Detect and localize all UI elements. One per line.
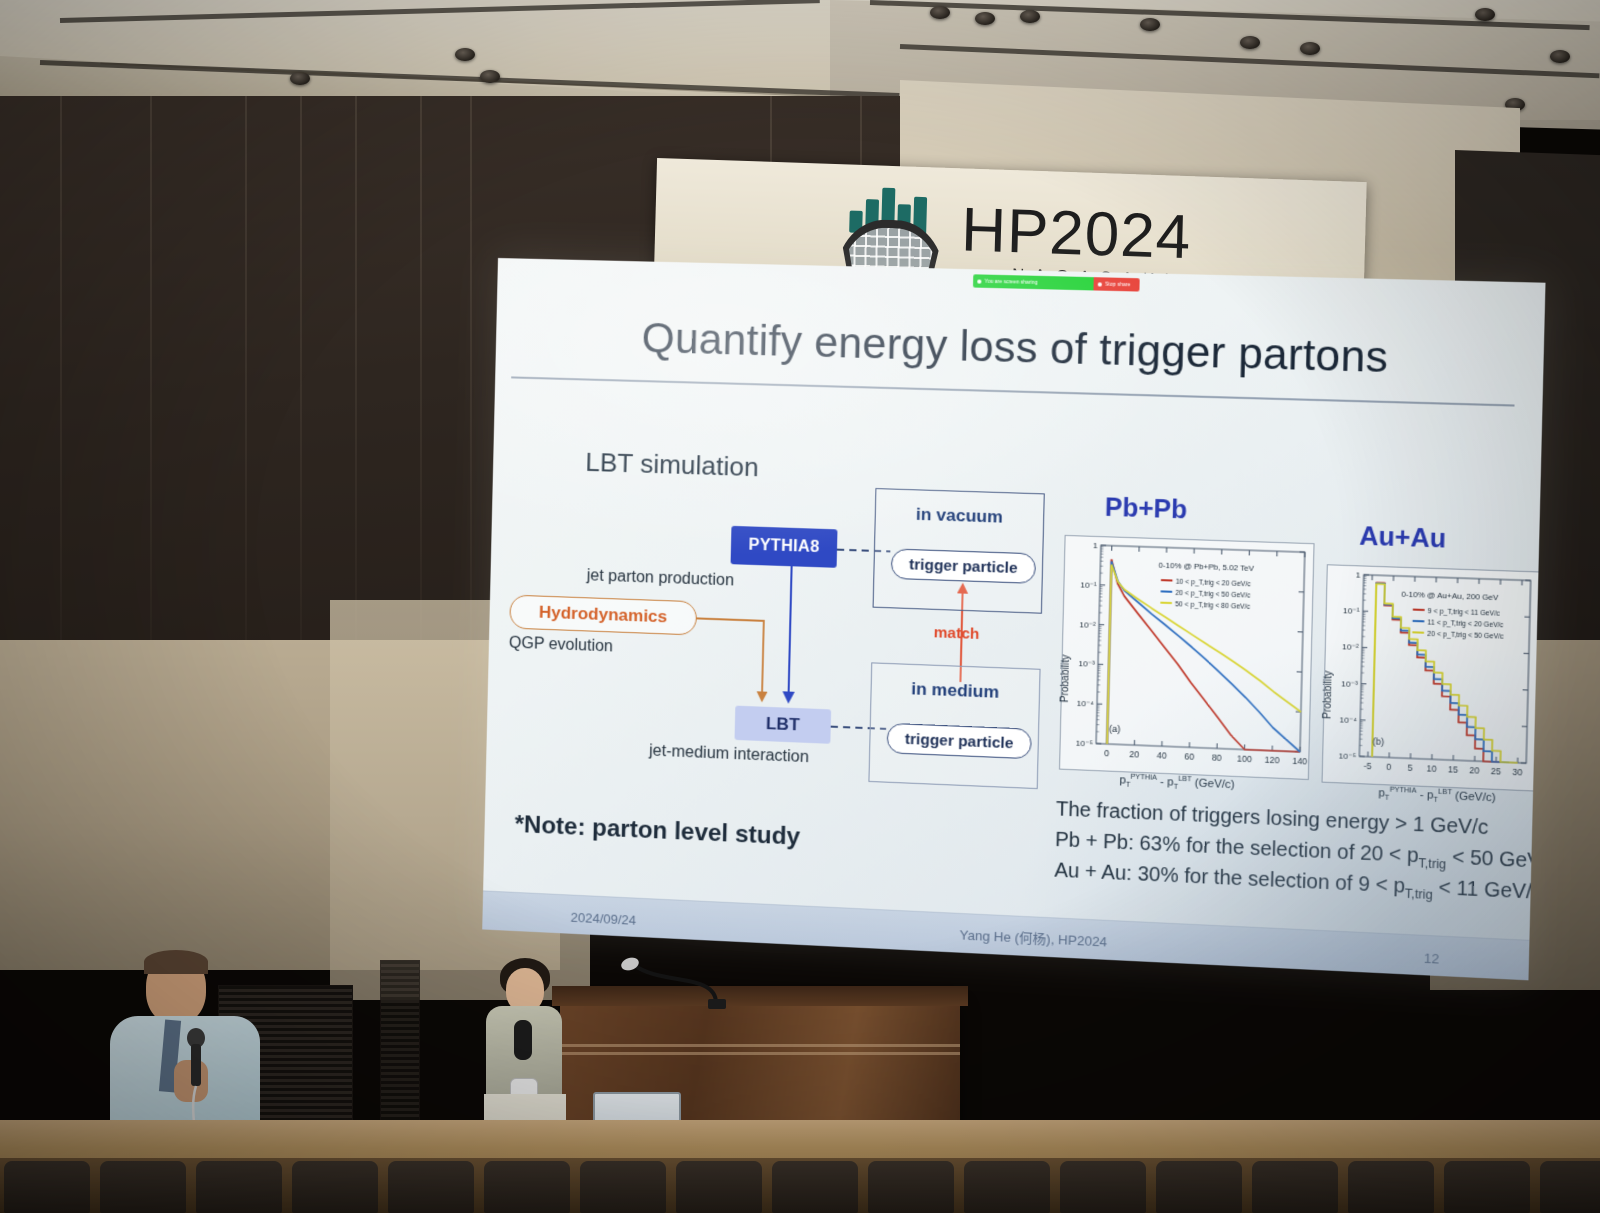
ceiling-spotlight: [1140, 18, 1160, 31]
svg-text:100: 100: [1237, 753, 1252, 764]
svg-text:80: 80: [1212, 752, 1222, 763]
front-seat-row: [0, 1153, 1600, 1213]
medium-trigger-particle: trigger particle: [887, 723, 1032, 759]
auditorium-photo: HP2024 NAGASAKI You are screen sharing S…: [0, 0, 1600, 1213]
screen-share-status: You are screen sharing: [973, 274, 1094, 290]
svg-text:120: 120: [1264, 755, 1280, 766]
projection-screen: You are screen sharing Stop share Quanti…: [482, 258, 1545, 980]
svg-text:0: 0: [1386, 762, 1392, 773]
svg-text:9 < p_T,trig < 11 GeV/c: 9 < p_T,trig < 11 GeV/c: [1428, 608, 1501, 618]
gooseneck-microphone: [600, 955, 760, 1025]
slide-title: Quantify energy loss of trigger partons: [496, 310, 1545, 387]
auditorium-seat: [4, 1161, 90, 1213]
svg-text:10: 10: [1426, 763, 1437, 774]
wall-seam: [245, 96, 247, 656]
wall-seam: [300, 96, 302, 656]
ceiling-spotlight: [1550, 50, 1570, 63]
lbt-box: LBT: [735, 706, 832, 744]
questioner-hair: [144, 950, 208, 974]
footer-page-number: 12: [1424, 950, 1440, 966]
svg-text:1: 1: [1356, 570, 1362, 579]
auditorium-seat: [1060, 1161, 1146, 1213]
svg-text:25: 25: [1491, 766, 1502, 777]
ceiling-spotlight: [930, 6, 950, 19]
svg-text:20 < p_T,trig < 50 GeV/c: 20 < p_T,trig < 50 GeV/c: [1427, 631, 1504, 641]
auditorium-seat: [292, 1161, 378, 1213]
svg-text:5: 5: [1408, 762, 1414, 773]
wall-seam: [355, 96, 357, 656]
svg-text:10⁻¹: 10⁻¹: [1080, 580, 1097, 590]
svg-text:1: 1: [1093, 541, 1098, 550]
x-axis-label: pTPYTHIA - pTLBT (GeV/c): [1119, 773, 1234, 793]
wall-seam: [470, 96, 472, 656]
in-medium-frame: in medium trigger particle: [868, 662, 1040, 789]
svg-text:30: 30: [1512, 767, 1523, 778]
svg-text:140: 140: [1292, 756, 1308, 767]
svg-text:10⁻⁴: 10⁻⁴: [1077, 699, 1095, 709]
auditorium-seat: [1252, 1161, 1338, 1213]
wall-seam: [60, 96, 62, 656]
auditorium-seat: [868, 1161, 954, 1213]
auditorium-seat: [100, 1161, 186, 1213]
stop-share-button[interactable]: Stop share: [1093, 277, 1139, 291]
svg-text:0: 0: [1104, 748, 1109, 758]
auditorium-seat: [1540, 1161, 1600, 1213]
banner-title: HP2024: [960, 199, 1192, 269]
conclusion-3-post: < 11 GeV/c: [1433, 876, 1543, 904]
presenter-microphone: [514, 1020, 532, 1060]
lectern-stripe-1: [560, 1044, 960, 1047]
ceiling-spotlight: [455, 48, 475, 61]
svg-text:20: 20: [1469, 765, 1480, 776]
wall-seam: [150, 96, 152, 656]
auditorium-seat: [196, 1161, 282, 1213]
svg-text:20 < p_T,trig < 50 GeV/c: 20 < p_T,trig < 50 GeV/c: [1175, 590, 1251, 600]
svg-text:10 < p_T,trig < 20 GeV/c: 10 < p_T,trig < 20 GeV/c: [1176, 579, 1252, 589]
in-vacuum-label: in vacuum: [876, 503, 1044, 529]
svg-text:60: 60: [1184, 751, 1194, 762]
parton-level-note: *Note: parton level study: [514, 811, 800, 852]
svg-text:(b): (b): [1372, 736, 1384, 747]
ceiling-spotlight: [1240, 36, 1260, 49]
y-axis-label: Probability: [1060, 655, 1073, 703]
ceiling-spotlight: [1020, 10, 1040, 23]
auditorium-seat: [1156, 1161, 1242, 1213]
conclusion-3-sub: T,trig: [1405, 886, 1433, 902]
auditorium-seat: [580, 1161, 666, 1213]
conclusion-2-post: < 50 GeV/c: [1446, 846, 1545, 874]
svg-text:10⁻³: 10⁻³: [1341, 679, 1358, 689]
svg-text:10⁻⁵: 10⁻⁵: [1076, 739, 1093, 749]
y-axis-label: Probability: [1322, 670, 1335, 719]
stop-dot-icon: [1098, 282, 1102, 286]
x-axis-label: pTPYTHIA - pTLBT (GeV/c): [1378, 786, 1496, 806]
svg-text:10⁻²: 10⁻²: [1079, 620, 1096, 630]
svg-text:10⁻²: 10⁻²: [1342, 643, 1359, 653]
auditorium-seat: [484, 1161, 570, 1213]
pythia8-box: PYTHIA8: [731, 526, 838, 568]
match-label: match: [934, 624, 980, 643]
pbpb-plot: 110⁻¹10⁻²10⁻³10⁻⁴10⁻⁵0204060801001201400…: [1059, 535, 1315, 780]
share-dot-icon: [977, 279, 981, 283]
svg-text:10⁻⁴: 10⁻⁴: [1339, 715, 1357, 725]
auau-chart-title: Au+Au: [1359, 522, 1446, 555]
share-label: You are screen sharing: [984, 278, 1037, 285]
auditorium-seat: [1444, 1161, 1530, 1213]
auditorium-seat: [676, 1161, 762, 1213]
in-medium-label: in medium: [871, 678, 1039, 705]
conclusion-2-sub: T,trig: [1418, 856, 1446, 872]
auau-plot: 110⁻¹10⁻²10⁻³10⁻⁴10⁻⁵-50510152025300-10%…: [1322, 564, 1541, 791]
svg-text:10⁻¹: 10⁻¹: [1343, 606, 1360, 616]
svg-text:20: 20: [1129, 749, 1139, 760]
auditorium-seat: [772, 1161, 858, 1213]
ceiling-spotlight: [290, 72, 310, 85]
stop-share-label: Stop share: [1105, 281, 1130, 288]
svg-text:11 < p_T,trig < 20 GeV/c: 11 < p_T,trig < 20 GeV/c: [1427, 619, 1504, 629]
wall-seam: [420, 96, 422, 656]
auditorium-seat: [388, 1161, 474, 1213]
screen-share-bar[interactable]: You are screen sharing Stop share: [973, 274, 1140, 291]
auditorium-seat: [964, 1161, 1050, 1213]
footer-date: 2024/09/24: [570, 910, 636, 928]
vacuum-trigger-particle: trigger particle: [891, 548, 1036, 583]
svg-text:(a): (a): [1109, 724, 1121, 735]
lectern-stripe-2: [560, 1052, 960, 1055]
ceiling-spotlight: [1300, 42, 1320, 55]
ceiling-spotlight: [975, 12, 995, 25]
svg-text:15: 15: [1448, 764, 1459, 775]
auditorium-seat: [1348, 1161, 1434, 1213]
ceiling-spotlight: [1475, 8, 1495, 21]
lbt-flow-diagram: PYTHIA8 jet parton production Hydrodynam…: [496, 468, 1054, 801]
svg-text:40: 40: [1157, 750, 1167, 761]
in-vacuum-frame: in vacuum trigger particle: [873, 488, 1045, 614]
svg-text:10⁻⁵: 10⁻⁵: [1339, 751, 1357, 761]
svg-text:10⁻³: 10⁻³: [1078, 659, 1095, 669]
svg-text:0-10% @ Au+Au, 200 GeV: 0-10% @ Au+Au, 200 GeV: [1401, 590, 1499, 603]
svg-text:0-10% @ Pb+Pb, 5.02 TeV: 0-10% @ Pb+Pb, 5.02 TeV: [1158, 561, 1255, 574]
hydrodynamics-pill: Hydrodynamics: [509, 595, 697, 636]
svg-text:50 < p_T,trig < 80 GeV/c: 50 < p_T,trig < 80 GeV/c: [1175, 601, 1251, 611]
pbpb-chart-title: Pb+Pb: [1105, 493, 1188, 525]
svg-text:-5: -5: [1363, 761, 1372, 772]
